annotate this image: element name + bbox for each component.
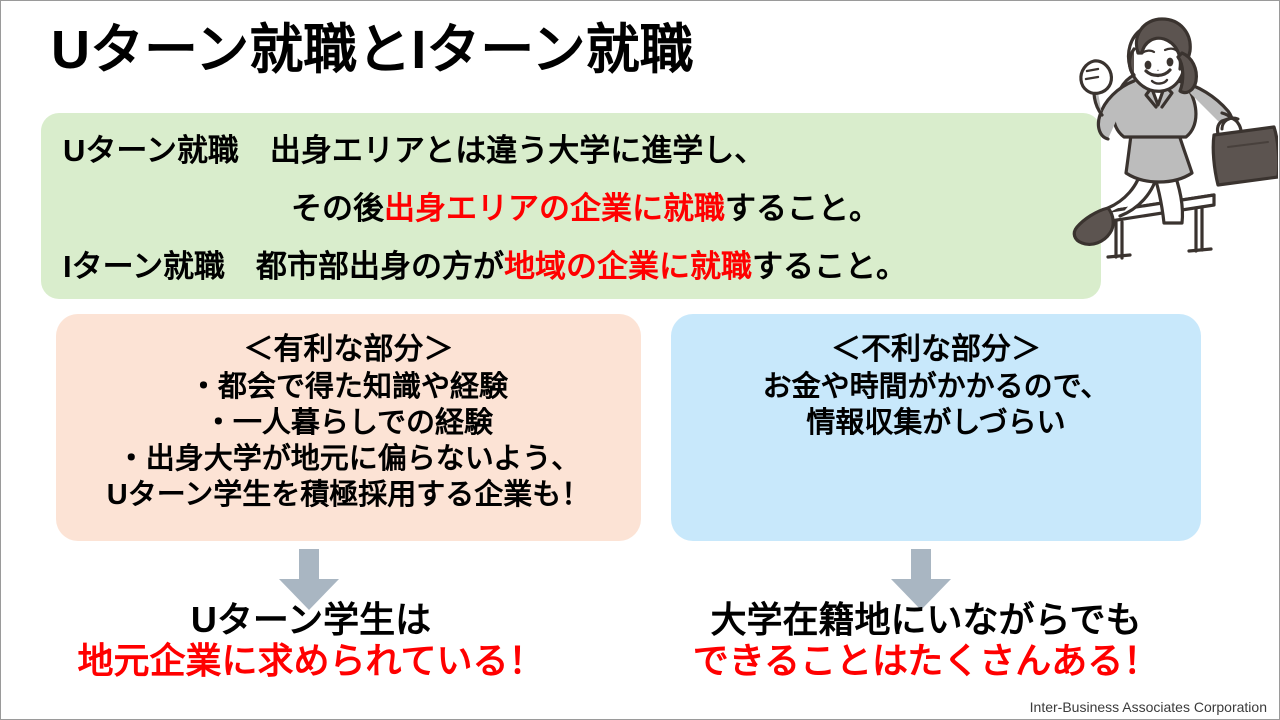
conclusion-left-line1: Uターン学生は [21,599,601,640]
advantage-item-1: ・都会で得た知識や経験 [56,369,641,405]
definition-box: Uターン就職 出身エリアとは違う大学に進学し、 その後出身エリアの企業に就職する… [41,113,1101,299]
disadvantage-heading: ＜不利な部分＞ [671,332,1201,369]
disadvantage-item-2: 情報収集がしづらい [671,405,1201,441]
definition-term-iturn: Iターン就職 [63,249,225,284]
definition-suffix-3: すること。 [752,249,907,284]
advantage-panel-content: ＜有利な部分＞ ・都会で得た知識や経験 ・一人暮らしでの経験 ・出身大学が地元に… [56,332,641,514]
definition-line-iturn: Iターン就職 都市部出身の方が地域の企業に就職すること。 [63,251,907,282]
definition-line-uturn: Uターン就職 出身エリアとは違う大学に進学し、 [63,135,765,166]
disadvantage-panel: ＜不利な部分＞ お金や時間がかかるので、 情報収集がしづらい [671,314,1201,541]
definition-term-uturn: Uターン就職 [63,133,239,168]
conclusion-left: Uターン学生は 地元企業に求められている！ [21,599,601,681]
definition-highlight-3: 地域の企業に就職 [504,249,752,284]
definition-text-uturn: 出身エリアとは違う大学に進学し、 [239,133,765,168]
advantage-heading: ＜有利な部分＞ [56,332,641,369]
advantage-item-3: ・出身大学が地元に偏らないよう、 [56,441,641,477]
conclusion-left-line2: 地元企業に求められている！ [21,640,601,681]
definition-highlight-2: 出身エリアの企業に就職 [384,191,725,226]
definition-prefix-3: 都市部出身の方が [225,249,504,284]
definition-prefix-2: その後 [291,191,384,226]
disadvantage-panel-content: ＜不利な部分＞ お金や時間がかかるので、 情報収集がしづらい [671,332,1201,441]
page-title: Uターン就職とIターン就職 [51,22,694,79]
disadvantage-item-1: お金や時間がかかるので、 [671,369,1201,405]
conclusion-right: 大学在籍地にいながらでも できることはたくさんある！ [636,599,1216,681]
businesswoman-jumping-hurdle-illustration [1046,9,1278,299]
footer-copyright: Inter-Business Associates Corporation [1030,699,1267,715]
definition-line-uturn-cont: その後出身エリアの企業に就職すること。 [291,193,880,224]
definition-suffix-2: すること。 [725,191,880,226]
advantage-item-4: Uターン学生を積極採用する企業も！ [56,477,641,513]
slide-canvas: Uターン就職とIターン就職 Uターン就職 出身エリアとは違う大学に進学し、 その… [0,0,1280,720]
conclusion-right-line2: できることはたくさんある！ [636,640,1216,681]
advantage-panel: ＜有利な部分＞ ・都会で得た知識や経験 ・一人暮らしでの経験 ・出身大学が地元に… [56,314,641,541]
advantage-item-2: ・一人暮らしでの経験 [56,405,641,441]
conclusion-right-line1: 大学在籍地にいながらでも [636,599,1216,640]
